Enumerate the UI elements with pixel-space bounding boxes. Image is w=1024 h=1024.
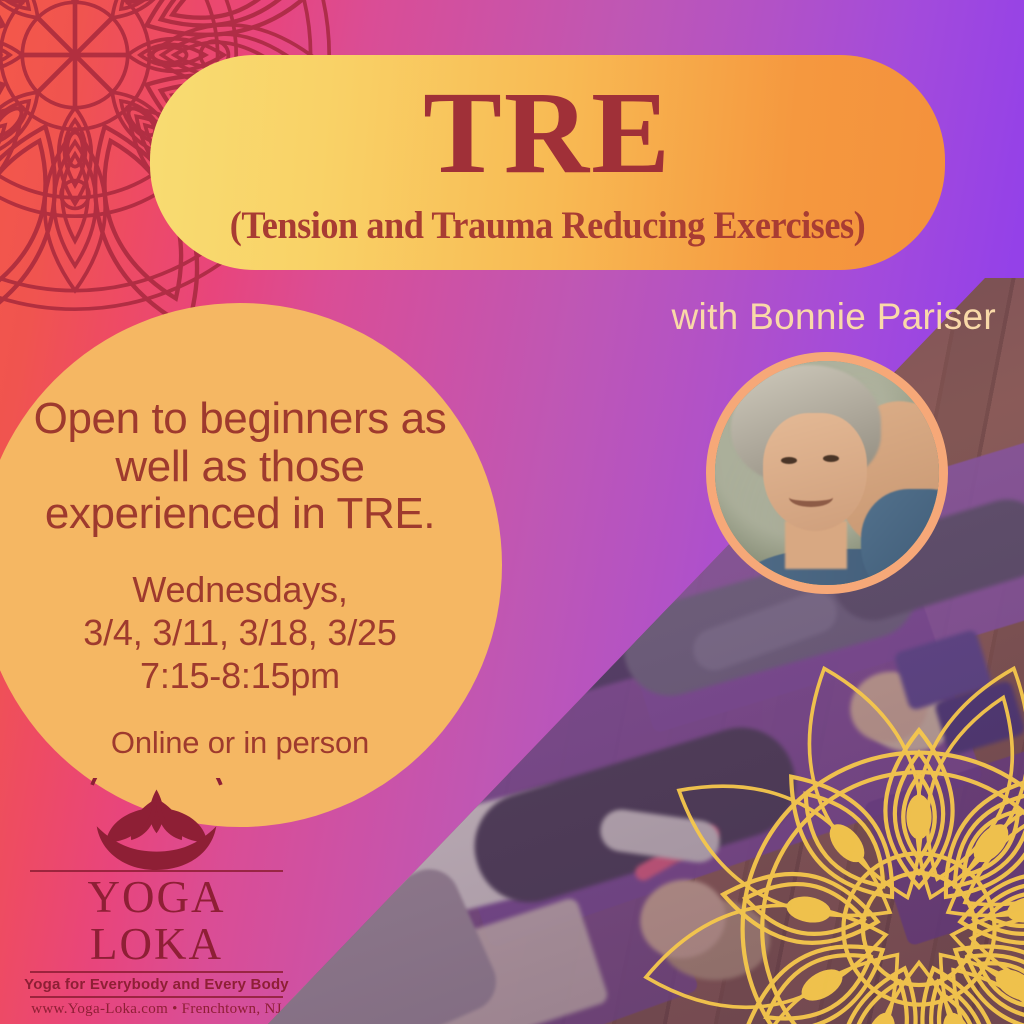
instructor-portrait (706, 352, 948, 594)
logo-tagline: Yoga for Everybody and Every Body (24, 973, 289, 996)
logo-url-location: www.Yoga-Loka.com • Frenchtown, NJ (24, 998, 289, 1018)
yoga-loka-logo: YOGA LOKA Yoga for Everybody and Every B… (24, 778, 289, 1019)
page-title: TRE (150, 63, 945, 202)
schedule-text: Wednesdays, 3/4, 3/11, 3/18, 3/25 7:15-8… (0, 568, 490, 698)
lotus-icon (24, 778, 289, 870)
instructor-name: with Bonnie Pariser (672, 296, 996, 338)
title-panel: TRE (Tension and Trauma Reducing Exercis… (150, 55, 945, 270)
portrait-eye (823, 455, 839, 462)
portrait-eye (781, 457, 797, 464)
content-copy: Open to beginners as well as those exper… (0, 395, 490, 761)
page-subtitle: (Tension and Trauma Reducing Exercises) (178, 203, 917, 248)
logo-name: YOGA LOKA (24, 872, 289, 972)
headline-text: Open to beginners as well as those exper… (0, 395, 490, 538)
logo-divider-mid (30, 971, 283, 973)
attendance-mode-text: Online or in person (0, 725, 490, 761)
logo-divider-bottom (30, 996, 283, 998)
logo-divider-top (30, 870, 283, 872)
flyer-canvas: TRE (Tension and Trauma Reducing Exercis… (0, 0, 1024, 1024)
portrait-face (763, 413, 867, 531)
portrait-sleeve (861, 489, 948, 594)
portrait-smile (789, 488, 833, 507)
